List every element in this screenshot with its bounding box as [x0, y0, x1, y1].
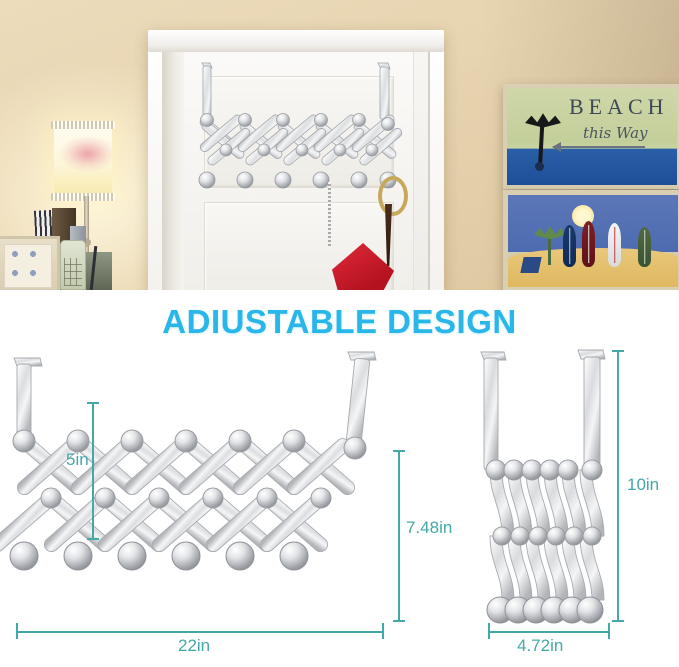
dimension-10in-line [617, 350, 619, 622]
dimension-22in-label: 22in [178, 636, 210, 656]
surfboard-4 [638, 227, 651, 267]
dimension-4-72in-cap-left [488, 623, 490, 639]
surf-palm-trunk [548, 239, 551, 265]
dimension-7-48in-line [398, 450, 400, 622]
cordless-phone-icon [60, 240, 86, 290]
dimension-4-72in-cap-right [608, 623, 610, 639]
dimension-4-72in-line [488, 631, 610, 633]
dimension-5in-label: 5in [66, 450, 89, 470]
surfboard-art [503, 190, 679, 290]
dimension-7-48in-label: 7.48in [406, 518, 452, 538]
over-door-arms [202, 63, 390, 119]
beach-sign-art: BEACH this Way [503, 84, 679, 189]
beach-chair-icon [520, 257, 541, 273]
dimension-22in-cap-right [382, 623, 384, 639]
lifestyle-photo: BEACH this Way [0, 0, 679, 290]
rack-hook-knobs [199, 172, 396, 188]
door-top-rail [148, 30, 444, 52]
dimension-5in-cap-bottom [87, 538, 99, 540]
surfboard-1 [563, 225, 576, 267]
over-door-hook-left [14, 358, 42, 436]
beach-sign-title: BEACH [569, 94, 669, 120]
collapsed-diagram [460, 348, 635, 638]
surfboard-2 [582, 221, 595, 267]
palm-tree-icon [521, 104, 565, 166]
over-door-hook-right [345, 352, 376, 451]
surfboard-3 [608, 223, 621, 267]
product-image: BEACH this Way ADIUSTABLE DESIGN [0, 0, 679, 667]
gold-ring-icon [378, 176, 408, 216]
coconut-icon [535, 162, 544, 171]
lamp-shade-icon [54, 125, 112, 197]
beach-sign-subtitle: this Way [583, 124, 647, 142]
door-edge [162, 44, 184, 290]
diagram-panel: ADIUSTABLE DESIGN [0, 290, 679, 667]
accordion-rack-photo-svg [182, 58, 414, 288]
collapsed-over-door-hooks [481, 350, 605, 471]
beach-sign-arrow-icon [553, 146, 645, 148]
hanging-chain [328, 182, 331, 246]
dimension-22in-cap-left [16, 623, 18, 639]
frame-photo-content [7, 247, 49, 287]
dimension-7-48in-cap-top [393, 450, 405, 452]
dimension-5in-line [92, 402, 94, 540]
dimension-10in-cap-top [612, 350, 624, 352]
phone-keypad [64, 258, 82, 286]
expanded-rack-svg [0, 338, 430, 638]
collapsed-hook-knobs [487, 597, 603, 623]
collapsed-links-lower [490, 536, 604, 600]
picture-frame [0, 236, 60, 290]
dimension-10in-cap-bottom [612, 620, 624, 622]
collapsed-rack-svg [460, 348, 635, 638]
dimension-5in-cap-top [87, 402, 99, 404]
dimension-10in-label: 10in [627, 475, 659, 495]
panel-title: ADIUSTABLE DESIGN [0, 303, 679, 341]
hook-rack-installed [182, 58, 414, 288]
dimension-7-48in-cap-bottom [393, 620, 405, 622]
collapsed-top-pivots [486, 460, 602, 480]
expanded-diagram [0, 338, 430, 638]
dimension-22in-line [16, 631, 384, 633]
dimension-4-72in-label: 4.72in [517, 636, 563, 656]
